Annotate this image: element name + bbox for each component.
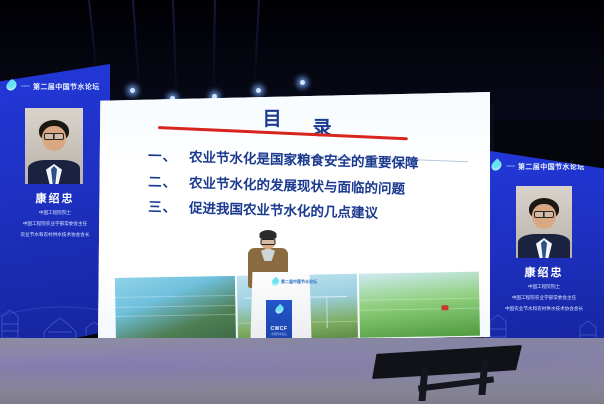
right-panel-header: CWCF 第二届中国节水论坛	[492, 160, 585, 173]
green-field-spraying-photo	[359, 272, 480, 338]
water-drop-logo-icon	[7, 80, 18, 93]
spotlight	[300, 80, 305, 85]
podium-logo-text: 第二届中国节水论坛	[281, 279, 317, 285]
left-portrait-photo	[25, 108, 83, 184]
confidence-monitor	[372, 345, 522, 401]
toc-item: 三、 促进我国农业节水化的几点建议	[148, 200, 478, 223]
toc-number: 一、	[148, 149, 177, 163]
conference-stage-scene: CWCF 第二届中国节水论坛 康绍忠 中国工程院院士 中国工程院农业学部常委会主…	[0, 0, 604, 404]
portrait-face	[39, 120, 69, 142]
podium-panel-sub: 中国节水论坛	[266, 332, 292, 336]
left-panel-header: CWCF 第二届中国节水论坛	[7, 80, 100, 93]
left-logo-mark: CWCF	[21, 85, 30, 88]
canal-irrigation-photo	[115, 276, 236, 342]
left-speaker-panel: CWCF 第二届中国节水论坛 康绍忠 中国工程院院士 中国工程院农业学部常委会主…	[0, 64, 110, 354]
portrait-suit	[28, 160, 80, 184]
right-portrait-photo	[516, 186, 572, 258]
slide-title: 目 录	[263, 104, 333, 131]
truss-cable	[212, 0, 216, 100]
truss-cable	[253, 0, 260, 92]
water-drop-logo-icon	[270, 277, 281, 288]
portrait-face	[529, 198, 559, 220]
right-panel-header-text: 第二届中国节水论坛	[518, 162, 585, 172]
toc-text: 促进我国农业节水化的几点建议	[189, 202, 378, 221]
portrait-suit	[518, 234, 570, 258]
left-speaker-name: 康绍忠	[0, 190, 110, 206]
water-drop-logo-icon	[492, 160, 503, 173]
toc-number: 三、	[148, 200, 177, 214]
left-credential-1: 中国工程院院士	[0, 210, 110, 217]
slide-title-char-1: 目	[263, 104, 283, 131]
right-logo-mark: CWCF	[506, 165, 515, 168]
left-credential-3: 农业节水和农村供水技术协会会长	[0, 232, 110, 239]
right-speaker-name: 康绍忠	[484, 264, 604, 280]
left-panel-header-text: 第二届中国节水论坛	[33, 82, 100, 92]
toc-item: 一、 农业节水化是国家粮食安全的重要保障	[148, 149, 478, 172]
right-speaker-panel: CWCF 第二届中国节水论坛 康绍忠 中国工程院院士 中国工程院农业学部常委会主…	[484, 150, 604, 355]
truss-cable	[132, 0, 141, 98]
spotlight	[256, 88, 261, 93]
water-drop-logo-icon	[273, 304, 284, 315]
speaker-hair	[260, 230, 277, 239]
podium-logo: 第二届中国节水论坛	[272, 278, 317, 286]
spotlight	[130, 88, 135, 93]
monitor-screen	[372, 345, 522, 379]
left-credential-2: 中国工程院农业学部常委会主任	[0, 221, 110, 228]
toc-number: 二、	[148, 175, 177, 189]
toc-text: 农业节水化是国家粮食安全的重要保障	[189, 151, 419, 171]
truss-cable	[172, 0, 178, 104]
toc-text: 农业节水化的发展现状与面临的问题	[189, 176, 405, 196]
toc-item: 二、 农业节水化的发展现状与面临的问题	[148, 175, 478, 198]
speaker-glasses-icon	[261, 239, 276, 245]
right-credential-1: 中国工程院院士	[484, 284, 604, 291]
slide-toc-list: 一、 农业节水化是国家粮食安全的重要保障 二、 农业节水化的发展现状与面临的问题…	[148, 154, 478, 231]
